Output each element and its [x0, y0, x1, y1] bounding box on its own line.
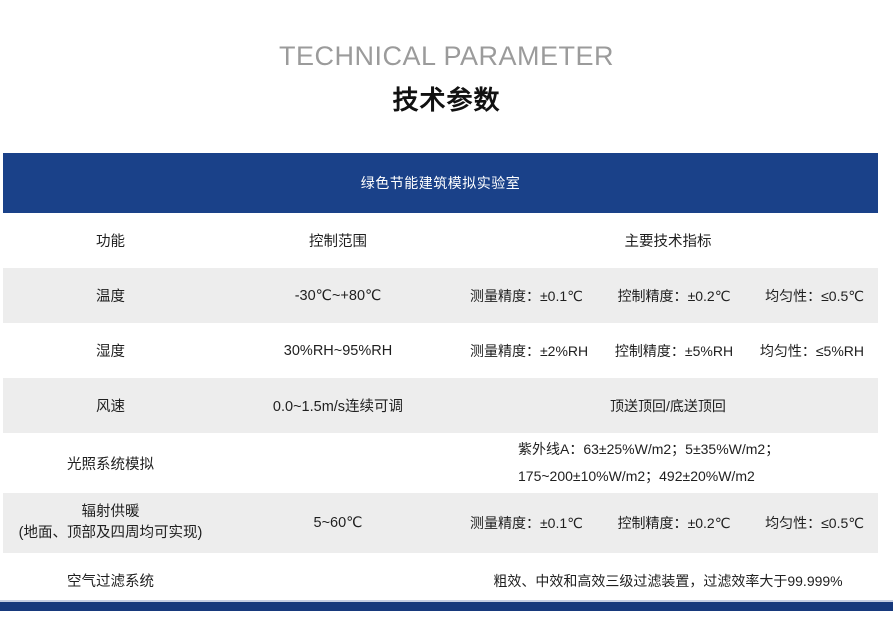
- row-function-sublabel: (地面、顶部及四周均可实现): [3, 523, 218, 544]
- spec-label: 控制精度：: [615, 343, 685, 359]
- bottom-accent-bar: [0, 600, 893, 611]
- spec-value: ±2%RH: [540, 343, 588, 359]
- spec-label: 均匀性：: [760, 343, 816, 359]
- spec-label: 测量精度：: [470, 288, 540, 304]
- row-spec-cell: 顶送顶回/底送顶回: [458, 378, 878, 433]
- row-spec-cell: 测量精度：±0.1℃ 控制精度：±0.2℃ 均匀性：≤0.5℃: [458, 268, 878, 323]
- table-row: 辐射供暖 (地面、顶部及四周均可实现) 5~60℃ 测量精度：±0.1℃ 控制精…: [3, 493, 878, 553]
- table-row: 光照系统模拟 紫外线A：63±25%W/m2；5±35%W/m2； 175~20…: [3, 433, 878, 493]
- spec-item: 测量精度：±0.1℃: [470, 513, 583, 533]
- row-spec-cell: 测量精度：±2%RH 控制精度：±5%RH 均匀性：≤5%RH: [458, 323, 878, 378]
- spec-item: 测量精度：±2%RH: [470, 341, 588, 361]
- spec-value: ±0.1℃: [540, 515, 583, 531]
- technical-parameter-page: TECHNICAL PARAMETER 技术参数 绿色节能建筑模拟实验室 功能 …: [0, 0, 893, 630]
- spec-value: ±0.2℃: [688, 515, 731, 531]
- row-function-label: 风速: [3, 378, 218, 433]
- spec-text: 粗效、中效和高效三级过滤装置，过滤效率大于99.999%: [458, 571, 878, 591]
- table-row: 温度 -30℃~+80℃ 测量精度：±0.1℃ 控制精度：±0.2℃ 均匀性：≤…: [3, 268, 878, 323]
- spec-value: ≤5%RH: [816, 343, 864, 359]
- row-function-label: 温度: [3, 268, 218, 323]
- spec-label: 均匀性：: [765, 288, 821, 304]
- table-row: 风速 0.0~1.5m/s连续可调 顶送顶回/底送顶回: [3, 378, 878, 433]
- spec-text: 顶送顶回/底送顶回: [458, 396, 878, 416]
- row-spec-cell: 紫外线A：63±25%W/m2；5±35%W/m2； 175~200±10%W/…: [458, 433, 878, 493]
- spec-item: 测量精度：±0.1℃: [470, 286, 583, 306]
- row-range-value: 0.0~1.5m/s连续可调: [218, 378, 458, 433]
- column-header-spec: 主要技术指标: [458, 213, 878, 268]
- page-title-chinese: 技术参数: [0, 86, 893, 115]
- table-header-row: 功能 控制范围 主要技术指标: [3, 213, 878, 268]
- row-function-cell: 辐射供暖 (地面、顶部及四周均可实现): [3, 493, 218, 553]
- spec-item: 均匀性：≤0.5℃: [765, 513, 864, 533]
- table-banner-label: 绿色节能建筑模拟实验室: [361, 173, 521, 193]
- spec-value: ±5%RH: [685, 343, 733, 359]
- column-header-range: 控制范围: [218, 213, 458, 268]
- parameter-table: 绿色节能建筑模拟实验室 功能 控制范围 主要技术指标 温度 -30℃~+80℃ …: [3, 153, 878, 608]
- table-row: 湿度 30%RH~95%RH 测量精度：±2%RH 控制精度：±5%RH 均匀性…: [3, 323, 878, 378]
- row-range-value: -30℃~+80℃: [218, 268, 458, 323]
- spec-value: ±0.2℃: [688, 288, 731, 304]
- spec-label: 控制精度：: [618, 288, 688, 304]
- spec-item: 控制精度：±0.2℃: [618, 513, 731, 533]
- row-function-label: 辐射供暖: [3, 502, 218, 523]
- spec-value: ≤0.5℃: [821, 515, 864, 531]
- row-function-label: 湿度: [3, 323, 218, 378]
- column-header-function: 功能: [3, 213, 218, 268]
- spec-label: 测量精度：: [470, 343, 540, 359]
- row-range-value: 30%RH~95%RH: [218, 323, 458, 378]
- spec-item: 控制精度：±5%RH: [615, 341, 733, 361]
- spec-label: 均匀性：: [765, 515, 821, 531]
- spec-item: 均匀性：≤0.5℃: [765, 286, 864, 306]
- row-range-value: 5~60℃: [218, 493, 458, 553]
- parameter-table-body: 功能 控制范围 主要技术指标 温度 -30℃~+80℃ 测量精度：±0.1℃ 控…: [3, 213, 878, 608]
- page-title-english: TECHNICAL PARAMETER: [0, 42, 893, 72]
- table-banner: 绿色节能建筑模拟实验室: [3, 153, 878, 213]
- spec-line: 175~200±10%W/m2；492±20%W/m2: [518, 463, 878, 490]
- spec-multiline: 紫外线A：63±25%W/m2；5±35%W/m2； 175~200±10%W/…: [458, 436, 878, 489]
- spec-label: 测量精度：: [470, 515, 540, 531]
- page-titles: TECHNICAL PARAMETER 技术参数: [0, 0, 893, 114]
- row-range-value: [218, 433, 458, 493]
- spec-value: ≤0.5℃: [821, 288, 864, 304]
- spec-label: 控制精度：: [618, 515, 688, 531]
- spec-value: ±0.1℃: [540, 288, 583, 304]
- spec-line: 紫外线A：63±25%W/m2；5±35%W/m2；: [518, 436, 878, 463]
- spec-item: 均匀性：≤5%RH: [760, 341, 864, 361]
- row-spec-cell: 测量精度：±0.1℃ 控制精度：±0.2℃ 均匀性：≤0.5℃: [458, 493, 878, 553]
- row-function-label: 光照系统模拟: [3, 433, 218, 493]
- spec-item: 控制精度：±0.2℃: [618, 286, 731, 306]
